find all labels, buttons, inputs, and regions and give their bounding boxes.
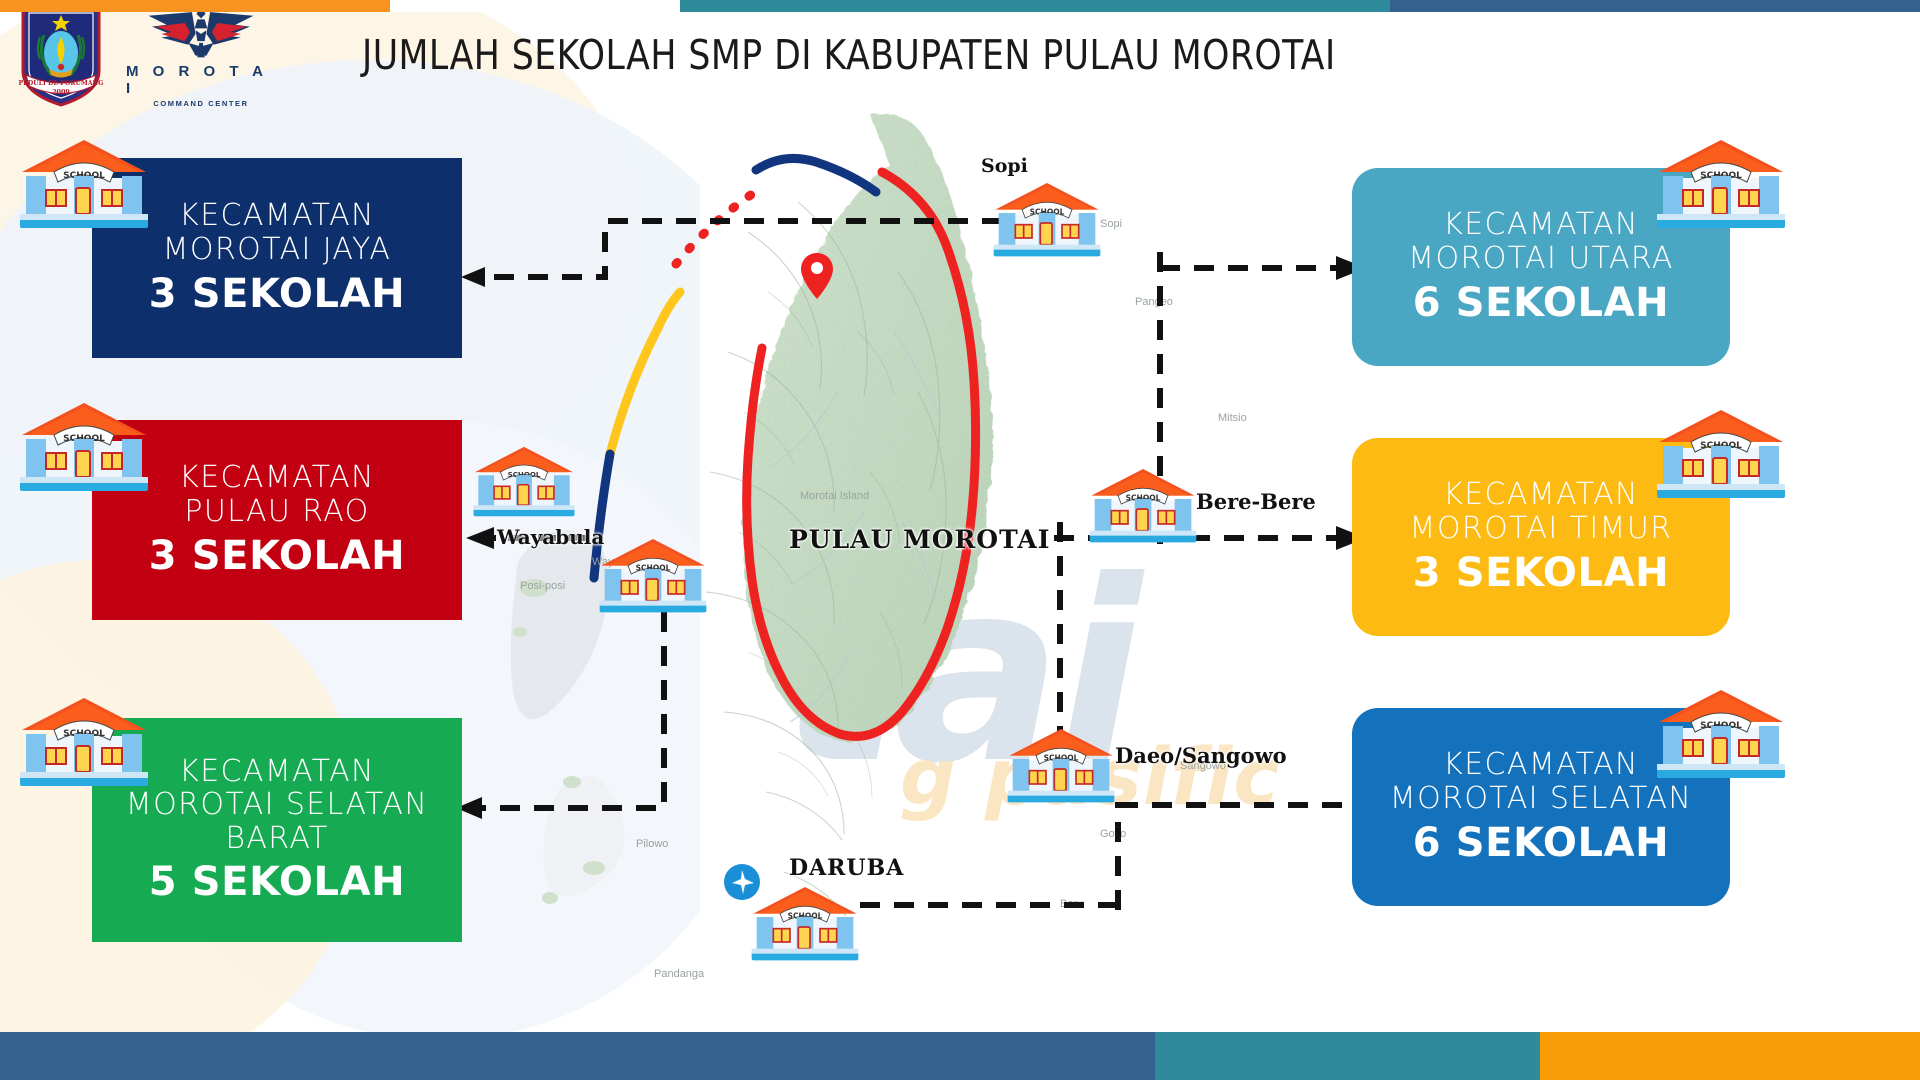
district-card-line-1: KECAMATAN <box>1443 208 1639 242</box>
district-card-line-1: KECAMATAN <box>1443 478 1639 512</box>
bottom-bar-segment-2 <box>390 1032 775 1080</box>
district-card-line-2: MOROTAI JAYA <box>163 233 392 267</box>
district-card-count: 3 SEKOLAH <box>149 271 405 317</box>
map-toponym-posiposi: Posi-posi <box>520 580 565 592</box>
top-bar-segment-teal <box>680 0 1390 12</box>
district-card-line-3: BARAT <box>225 822 328 856</box>
map-toponym-pilowo: Pilowo <box>636 838 668 850</box>
map-label-island-name: PULAU MOROTAI <box>789 525 1050 554</box>
map-toponym-island: Morotai Island <box>800 490 869 502</box>
district-card-count: 3 SEKOLAH <box>1413 550 1669 596</box>
top-bar-segment-white <box>390 0 680 12</box>
district-card-line-1: KECAMATAN <box>179 755 375 789</box>
connector-daruba-horizontal <box>860 894 1120 916</box>
top-bar-segment-blue <box>1390 0 1920 12</box>
map-label-daeo-sangowo: Daeo/Sangowo <box>1115 743 1287 768</box>
school-building-icon: SCHOOL <box>18 395 150 495</box>
district-card-line-2: MOROTAI TIMUR <box>1410 512 1673 546</box>
svg-text:PEDULI DE PORUMANG: PEDULI DE PORUMANG <box>19 80 104 87</box>
district-card-line-2: PULAU RAO <box>184 495 369 529</box>
school-building-icon: SCHOOL <box>18 690 150 790</box>
location-pin-icon <box>800 252 834 300</box>
district-card-count: 5 SEKOLAH <box>149 859 405 905</box>
connector-morotai-selatan-horizontal <box>1110 794 1370 816</box>
top-accent-bar <box>0 0 1920 12</box>
kabupaten-pulau-morotai-crest-icon: PEDULI DE PORUMANG 2009 <box>18 1 104 109</box>
connector-morotai-utara <box>1160 252 1372 286</box>
page-header: PEDULI DE PORUMANG 2009 M O R O T A I CO… <box>0 0 1920 110</box>
airplane-icon <box>722 862 762 902</box>
bottom-bar-segment-1 <box>0 1032 390 1080</box>
map-label-daruba: DARUBA <box>789 855 904 881</box>
map-label-wayabula: Wayabula <box>497 525 604 549</box>
district-card-count: 6 SEKOLAH <box>1413 820 1669 866</box>
top-bar-segment-orange <box>0 0 390 12</box>
school-building-icon: SCHOOL <box>1088 462 1198 546</box>
connector-morotai-jaya <box>455 215 1075 335</box>
school-building-icon: SCHOOL <box>472 440 576 520</box>
district-card-line-1: KECAMATAN <box>179 461 375 495</box>
map-label-bere-bere: Bere-Bere <box>1196 489 1316 514</box>
map-toponym-sopi: Sopi <box>1100 218 1122 230</box>
morotai-command-center-logo: M O R O T A I COMMAND CENTER <box>126 3 276 108</box>
school-building-icon: SCHOOL <box>992 176 1102 260</box>
district-card-line-1: KECAMATAN <box>179 199 375 233</box>
connector-timur-vertical <box>1054 522 1068 752</box>
svg-text:2009: 2009 <box>52 88 70 96</box>
page-title: JUMLAH SEKOLAH SMP DI KABUPATEN PULAU MO… <box>362 31 1336 79</box>
school-building-icon: SCHOOL <box>750 880 860 964</box>
school-building-icon: SCHOOL <box>598 532 708 616</box>
district-card-line-2: MOROTAI SELATAN <box>126 788 428 822</box>
district-card-line-2: MOROTAI SELATAN <box>1390 782 1692 816</box>
bottom-bar-segment-4 <box>1155 1032 1540 1080</box>
connector-morotai-selatan-vertical <box>1110 802 1128 912</box>
school-building-icon: SCHOOL <box>1655 402 1787 502</box>
school-building-icon: SCHOOL <box>18 132 150 232</box>
logo-wordmark: M O R O T A I <box>126 63 276 97</box>
district-card-count: 3 SEKOLAH <box>149 533 405 579</box>
bottom-bar-segment-5 <box>1540 1032 1920 1080</box>
connector-morotai-selatan-barat <box>452 612 692 832</box>
logo-subtitle: COMMAND CENTER <box>153 99 248 108</box>
school-building-icon: SCHOOL <box>1006 722 1116 806</box>
bottom-accent-bar <box>0 1032 1920 1080</box>
map-toponym-pandanga: Pandanga <box>654 968 704 980</box>
bottom-bar-segment-3 <box>775 1032 1155 1080</box>
district-card-line-1: KECAMATAN <box>1443 748 1639 782</box>
map-label-sopi: Sopi <box>981 155 1028 177</box>
map-toponym-mitsio: Mitsio <box>1218 412 1247 424</box>
school-building-icon: SCHOOL <box>1655 132 1787 232</box>
school-building-icon: SCHOOL <box>1655 682 1787 782</box>
district-card-line-2: MOROTAI UTARA <box>1408 242 1674 276</box>
district-card-count: 6 SEKOLAH <box>1413 280 1669 326</box>
